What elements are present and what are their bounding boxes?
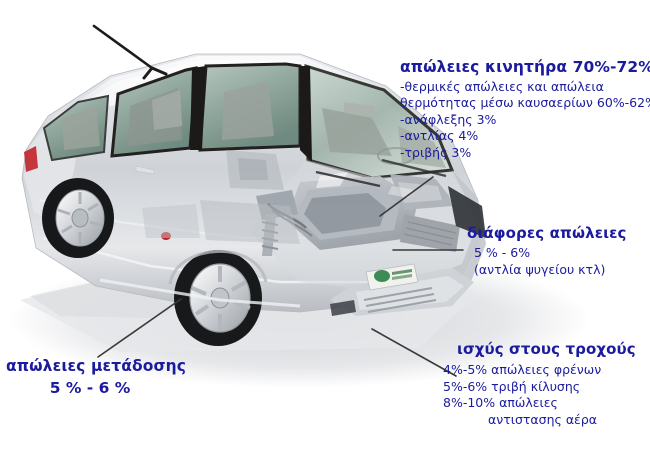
engine-losses-callout: απώλειες κινητήρα 70%-72% -θερμικές απώλ…: [400, 58, 650, 161]
wheel-power-callout: ισχύς στους τροχούς 4%-5% απώλειες φρένω…: [443, 340, 636, 428]
misc-losses-title: διάφορες απώλειες: [467, 224, 627, 242]
transmission-losses-lines: 5 % - 6 %: [6, 378, 186, 398]
misc-losses-callout: διάφορες απώλειες 5 % - 6% (αντλία ψυγεί…: [467, 224, 627, 278]
transmission-losses-title: απώλειες μετάδοσης: [6, 357, 186, 376]
wheel-power-lines: 4%-5% απώλειες φρένων 5%-6% τριβή κίλυση…: [443, 362, 636, 428]
transmission-losses-line-1: 5 % - 6 %: [6, 378, 174, 398]
engine-losses-line-5: -τριβής 3%: [400, 145, 650, 162]
wheel-power-line-1: 4%-5% απώλειες φρένων: [443, 362, 636, 379]
engine-losses-line-3: -ανάφλεξης 3%: [400, 112, 650, 129]
roof-antenna: [94, 26, 166, 78]
transmission-losses-callout: απώλειες μετάδοσης 5 % - 6 %: [6, 357, 186, 398]
engine-losses-line-1: -θερμικές απώλειες και απώλεια: [400, 79, 650, 96]
misc-losses-line-2: (αντλία ψυγείου κτλ): [474, 262, 627, 279]
wheel-power-line-3: 8%-10% απώλειες: [443, 395, 636, 412]
engine-losses-line-4: -αντλίας 4%: [400, 128, 650, 145]
rear-wheel: [42, 178, 114, 258]
misc-losses-line-1: 5 % - 6%: [474, 245, 627, 262]
engine-losses-line-2: θερμότητας μέσω καυσαερίων 60%-62%: [400, 95, 650, 112]
wheel-power-title: ισχύς στους τροχούς: [443, 340, 636, 358]
engine-losses-title: απώλειες κινητήρα 70%-72%: [400, 58, 650, 77]
diagram-canvas: απώλειες κινητήρα 70%-72% -θερμικές απώλ…: [0, 0, 650, 460]
misc-losses-lines: 5 % - 6% (αντλία ψυγείου κτλ): [467, 245, 627, 278]
wheel-power-line-4: αντιστασης αέρα: [443, 412, 636, 429]
wheel-power-line-2: 5%-6% τριβή κίλυσης: [443, 379, 636, 396]
engine-losses-lines: -θερμικές απώλειες και απώλεια θερμότητα…: [400, 79, 650, 162]
